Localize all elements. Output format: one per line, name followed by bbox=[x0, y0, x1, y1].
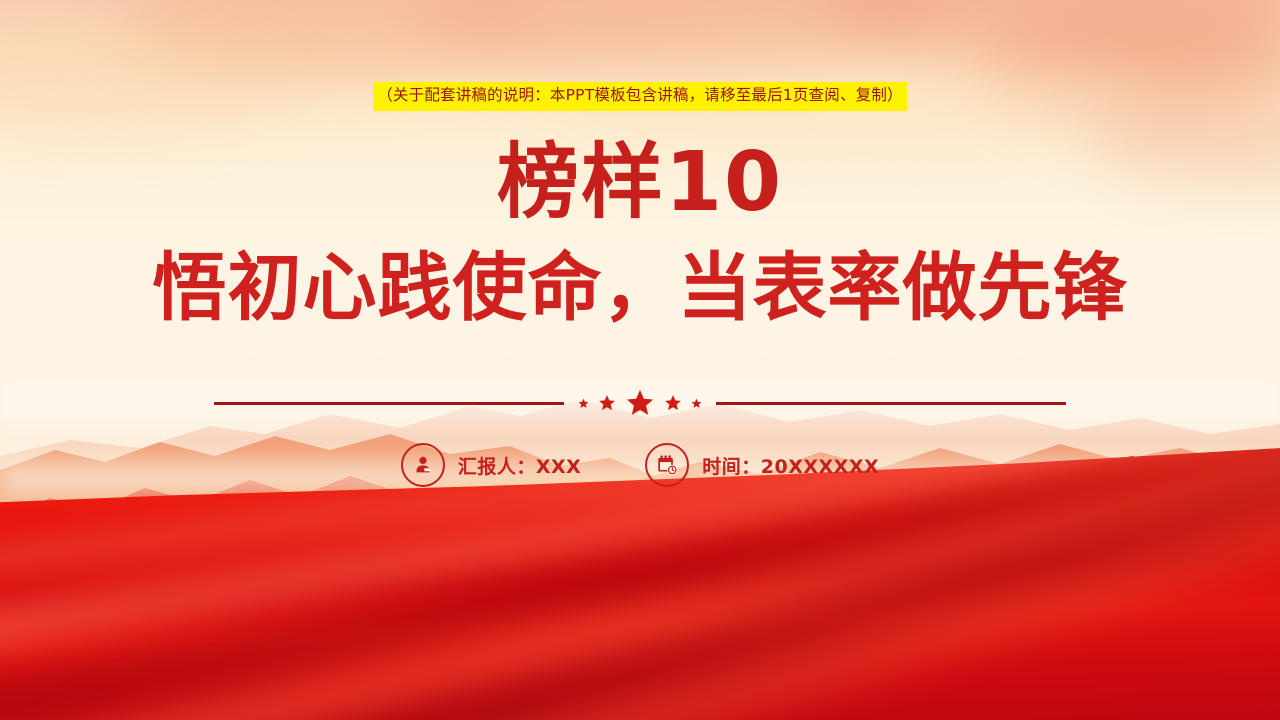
five-pointed-star-icon bbox=[625, 388, 655, 418]
date-label: 时间：20XXXXXX bbox=[702, 452, 879, 479]
presenter-label: 汇报人：XXX bbox=[458, 452, 581, 479]
divider-rule-left bbox=[214, 402, 564, 405]
cloud-decoration bbox=[0, 30, 280, 130]
presentation-title-slide: （关于配套讲稿的说明：本PPT模板包含讲稿，请移至最后1页查阅、复制） 榜样10… bbox=[0, 0, 1280, 720]
cloud-decoration bbox=[120, 0, 540, 80]
divider-stars bbox=[564, 388, 716, 418]
cloud-decoration bbox=[830, 0, 1280, 80]
watchtower bbox=[62, 536, 90, 558]
five-pointed-star-icon bbox=[578, 398, 589, 409]
person-icon bbox=[401, 443, 445, 487]
date-meta-item: 时间：20XXXXXX bbox=[645, 443, 879, 487]
presenter-meta-item: 汇报人：XXX bbox=[401, 443, 581, 487]
cloud-decoration bbox=[420, 0, 940, 80]
five-pointed-star-icon bbox=[598, 394, 616, 412]
divider-rule-right bbox=[716, 402, 1066, 405]
page-subtitle: 悟初心践使命，当表率做先锋 bbox=[0, 248, 1280, 329]
page-title: 榜样10 bbox=[0, 142, 1280, 224]
five-pointed-star-icon bbox=[691, 398, 702, 409]
star-divider bbox=[0, 386, 1280, 420]
speaker-notes-notice-banner: （关于配套讲稿的说明：本PPT模板包含讲稿，请移至最后1页查阅、复制） bbox=[373, 82, 907, 111]
five-pointed-star-icon bbox=[664, 394, 682, 412]
cloud-decoration bbox=[980, 10, 1280, 120]
calendar-clock-icon bbox=[645, 443, 689, 487]
slide-meta: 汇报人：XXX bbox=[0, 443, 1280, 487]
